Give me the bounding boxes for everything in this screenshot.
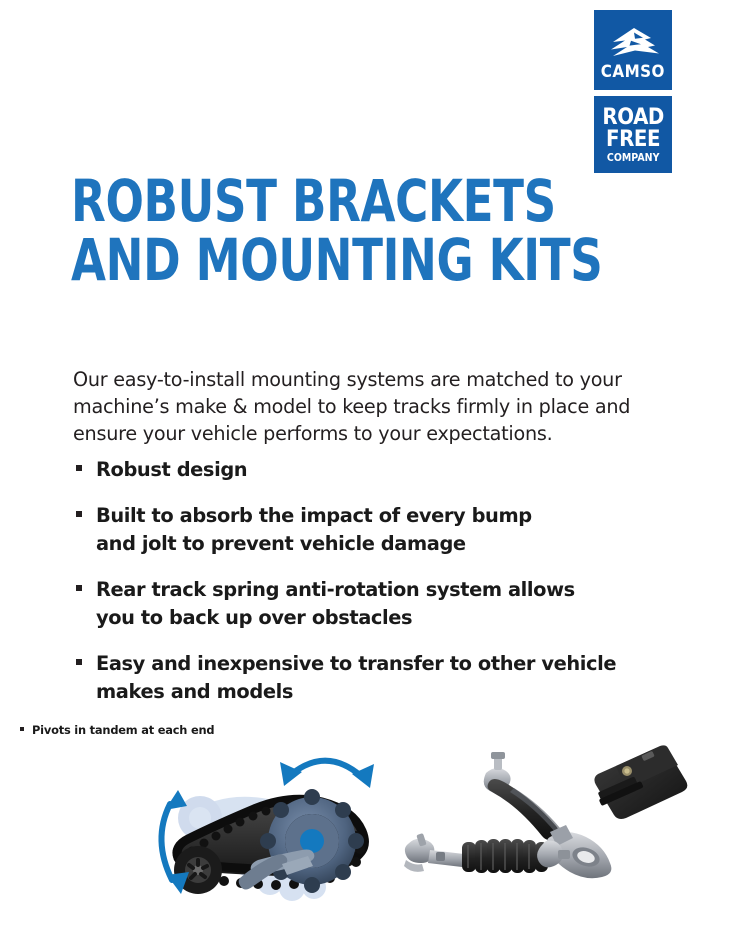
list-item: Easy and inexpensive to transfer to othe… [73,650,643,706]
square-bullet-icon [20,727,24,731]
rubber-track-system-illustration [140,742,405,912]
roadfree-line-road: ROAD [602,107,664,128]
anti-rotation-spring-rod-shape [404,833,570,873]
feature-list: Robust design Built to absorb the impact… [73,456,643,706]
list-item-label: Easy and inexpensive to transfer to othe… [96,652,616,703]
figure-caption: Pivots in tandem at each end [20,721,214,739]
lead-paragraph: Our easy-to-install mounting systems are… [73,366,648,447]
list-item-label: Rear track spring anti-rotation system a… [96,578,575,629]
drive-sprocket-shape [260,789,364,893]
mounting-block-shape [594,745,687,819]
page-title-line-2: AND MOUNTING KITS [71,231,602,290]
list-item: Built to absorb the impact of every bump… [73,502,643,558]
list-item-label: Robust design [96,458,247,481]
curved-double-arrow-horizontal-arrowheads [280,762,374,788]
page-title-line-1: ROBUST BRACKETS [71,172,602,231]
curved-double-arrow-vertical-icon [161,804,172,880]
roadfree-line-company: COMPANY [607,153,660,163]
page-title: ROBUST BRACKETS AND MOUNTING KITS [71,172,740,290]
camso-wordmark: CAMSO [601,64,665,81]
marketing-page: CAMSO ROAD FREE COMPANY ROBUST BRACKETS … [0,0,740,946]
figure-caption-label: Pivots in tandem at each end [32,723,214,737]
curved-double-arrow-horizontal-icon [293,761,361,776]
mounting-hardware-photo [402,726,712,891]
hub-center-dot [300,829,324,853]
logo-stack: CAMSO ROAD FREE COMPANY [594,10,672,173]
camso-chevron-icon [605,26,661,62]
square-bullet-icon [76,511,82,517]
camso-logo[interactable]: CAMSO [594,10,672,90]
road-free-company-logo[interactable]: ROAD FREE COMPANY [594,96,672,173]
roadfree-line-free: FREE [606,129,660,150]
list-item-label: Built to absorb the impact of every bump… [96,504,532,555]
square-bullet-icon [76,659,82,665]
square-bullet-icon [76,585,82,591]
list-item: Robust design [73,456,643,484]
square-bullet-icon [76,465,82,471]
list-item: Rear track spring anti-rotation system a… [73,576,643,632]
